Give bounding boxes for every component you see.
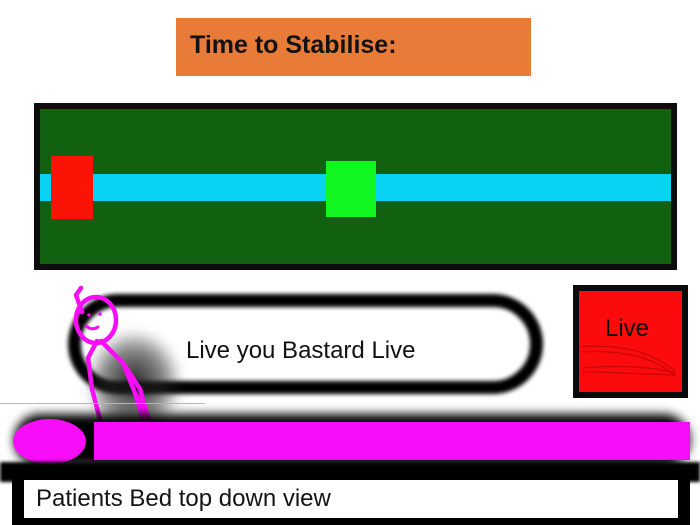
title-banner: Time to Stabilise:: [176, 18, 531, 76]
bed-pillow: [13, 419, 86, 464]
timeline-panel: [34, 103, 677, 270]
timeline-start-marker[interactable]: [51, 156, 93, 219]
timeline-progress-marker[interactable]: [326, 161, 376, 217]
live-label: Live: [605, 315, 649, 343]
bed-mattress: [94, 422, 690, 460]
caption-text: Patients Bed top down view: [36, 485, 331, 513]
speech-bubble-text: Live you Bastard Live: [186, 337, 415, 365]
divider-line: [0, 403, 205, 404]
live-status-monitor: Live: [573, 285, 688, 398]
page-title: Time to Stabilise:: [190, 31, 397, 60]
slide-canvas: Time to Stabilise: Live you Bastard Live: [0, 0, 700, 525]
